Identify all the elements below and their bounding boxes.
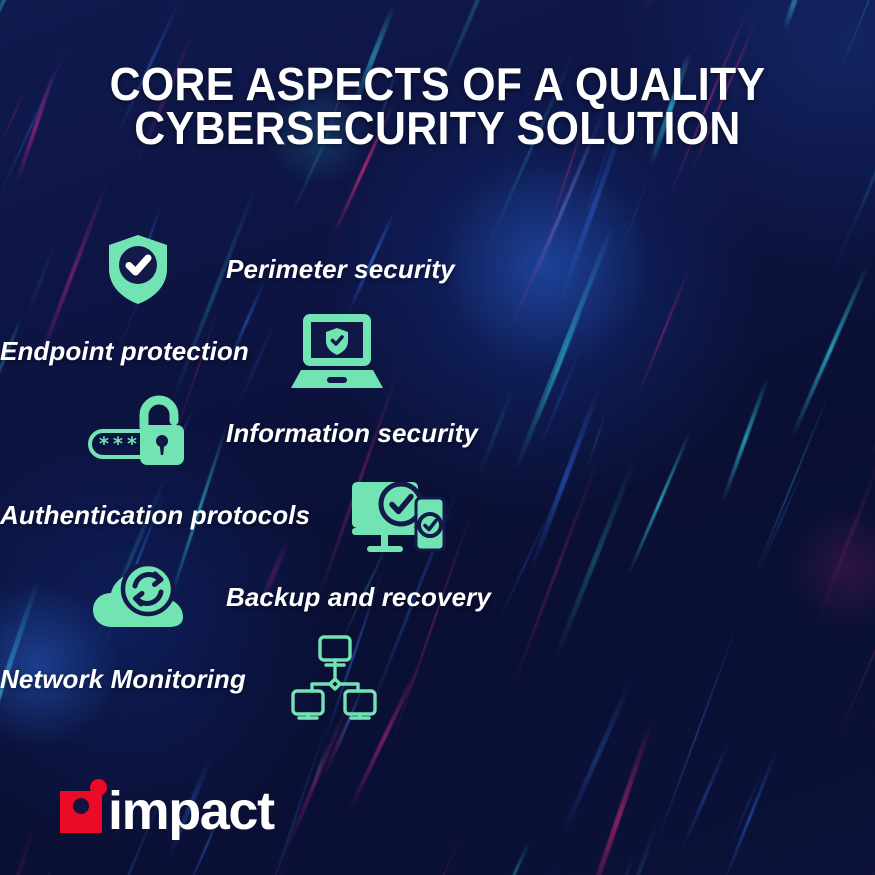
title-line-1: CORE ASPECTS OF A QUALITY: [31, 62, 845, 106]
cloud-sync-icon: [86, 556, 190, 638]
list-item-label: Perimeter security: [226, 254, 455, 285]
list-item-label: Information security: [226, 418, 478, 449]
impact-logo: impact: [60, 789, 274, 833]
svg-text:*: *: [113, 433, 123, 455]
list-item-label: Network Monitoring: [0, 664, 246, 695]
logo-i-tittle-dot: [90, 779, 107, 796]
laptop-shield-icon: [285, 310, 389, 392]
logo-mark-icon: [60, 789, 104, 833]
svg-text:*: *: [127, 433, 137, 455]
list-item-label: Authentication protocols: [0, 500, 310, 531]
list-item: * * * Information security: [0, 392, 875, 474]
logo-inner-dot: [73, 798, 89, 814]
list-item: Perimeter security: [0, 228, 875, 310]
title-line-2: CYBERSECURITY SOLUTION: [31, 106, 845, 150]
list-item-label: Endpoint protection: [0, 336, 249, 367]
list-item-label: Backup and recovery: [226, 582, 491, 613]
list-item: Endpoint protection: [0, 310, 875, 392]
network-monitors-icon: [282, 638, 386, 720]
list-item: Backup and recovery: [0, 556, 875, 638]
svg-text:*: *: [99, 433, 109, 455]
page-title: CORE ASPECTS OF A QUALITY CYBERSECURITY …: [0, 62, 875, 150]
list-item: Authentication protocols: [0, 474, 875, 556]
monitor-phone-check-icon: [346, 474, 450, 556]
infographic-canvas: CORE ASPECTS OF A QUALITY CYBERSECURITY …: [0, 0, 875, 875]
list-item: Network Monitoring: [0, 638, 875, 720]
logo-wordmark: impact: [108, 789, 274, 833]
shield-check-icon: [86, 228, 190, 310]
padlock-password-icon: * * *: [86, 392, 190, 474]
aspects-list: Perimeter security Endpoint protection: [0, 228, 875, 720]
